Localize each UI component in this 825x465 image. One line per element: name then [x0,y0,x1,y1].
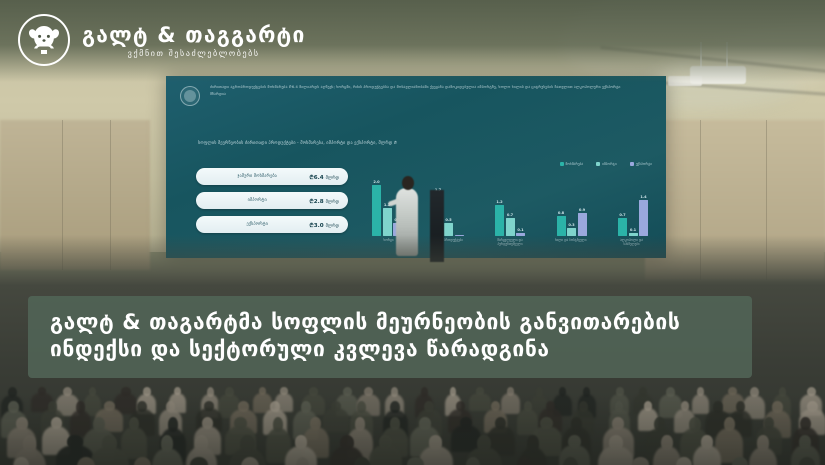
caption-banner: გალტ & თაგარტმა სოფლის მეურნეობის განვით… [28,296,752,378]
chart-bar-rect [495,205,504,236]
audience-member-head [681,401,689,411]
audience-member-head [310,417,320,430]
audience-member-head [612,417,624,430]
slide-metric-pills: ჯამური მოხმარება ₾6.4 მლრდ იმპორტი ₾2.8 … [196,168,348,240]
audience-member-head [559,387,567,396]
chart-bar: 0.5 [444,218,453,236]
audience-member-head [331,401,341,411]
chart-bar: 1.4 [639,195,648,236]
audience-member [469,393,491,412]
ram-emblem-icon [180,86,200,106]
chart-bar-rect [639,200,648,236]
audience-member-head [579,401,588,412]
audience-member-head [364,387,373,396]
audience-member-head [273,417,283,432]
audience-member-head [168,417,178,432]
metric-label: ჯამური მოხმარება [205,174,309,179]
brand-lockup: გალტ & თაგგარტი ვქმნით შესაძლებლობებს [18,14,306,66]
legend-item: იმპორტი [596,162,617,166]
chart-bar: 0.7 [618,213,627,236]
audience-member-head [390,417,401,430]
audience-member-head [67,435,82,448]
audience-member-head [689,417,701,432]
metric-label: იმპორტი [205,198,309,203]
slide-paragraph: ძირითადი აგროპროდუქტების მოხმარება ₾6.4 … [210,84,622,98]
audience-member-head [750,387,759,397]
chart-bar-rect [506,218,515,236]
caption-line-2: ინდექსი და სექტორული კვლევა წარადგინა [50,336,730,363]
caption-line-1: გალტ & თაგარტმა სოფლის მეურნეობის განვით… [50,309,730,336]
audience-member-head [16,417,28,430]
audience-member-head [524,401,532,412]
audience-member-head [424,401,434,412]
chart-bar-value-label: 1.2 [496,200,502,204]
audience-member-head [104,401,115,411]
brand-tagline: ვქმნით შესაძლებლობებს [82,48,306,60]
chart-bar: 0.7 [506,213,515,236]
chart-bar-value-label: 0.7 [619,213,625,217]
audience-member-head [495,417,506,429]
legend-item: მოხმარება [560,162,584,166]
audience-member-head [546,401,555,411]
audience-member-head [390,401,400,413]
audience-member-head [121,387,130,396]
ram-emblem-icon [18,14,70,66]
audience-member-head [355,417,365,431]
metric-value: ₾6.4 მლრდ [309,173,339,181]
chart-bar: 2.0 [372,180,381,236]
screenshot-root: ძირითადი აგროპროდუქტების მოხმარება ₾6.4 … [0,0,825,465]
audience-member-head [8,401,19,413]
audience-member-head [728,387,737,395]
chart-bar-group: 0.70.11.4 [618,195,648,236]
chart-bar-value-label: 0.7 [507,213,513,217]
chart-bar-value-label: 0.5 [445,218,451,222]
audience-member-head [407,457,423,465]
chart-bar-rect [618,218,627,236]
audience-member-head [38,387,46,395]
audience-member-head [540,417,553,429]
audience-member-head [301,401,311,413]
metric-label: ექსპორტი [205,222,309,227]
metric-pill: ჯამური მოხმარება ₾6.4 მლრდ [196,168,348,185]
audience-member-head [654,417,665,431]
audience-member-head [240,435,255,452]
audience-member-head [724,417,735,431]
audience-member-head [14,457,28,465]
audience-member-head [238,401,249,412]
chart-bar-rect [372,185,381,236]
chart-bar: 0.9 [578,208,587,236]
audience-member-head [421,387,428,397]
chart-bar-value-label: 0.1 [630,228,636,232]
audience-member-head [295,435,308,449]
audience-member-head [616,387,623,396]
audience-member-head [161,435,173,452]
header-overlay: გალტ & თაგგარტი ვქმნით შესაძლებლობებს [0,0,825,82]
audience-member-head [340,435,354,450]
audience-member-head [713,401,724,413]
chart-bar-value-label: 0.8 [558,211,564,215]
audience-member-head [129,417,139,430]
chart-bar-value-label: 0.9 [579,208,585,212]
audience-member-head [259,387,266,395]
audience-member-head [779,387,786,397]
audience-member-head [764,417,774,429]
audience-member-head [143,387,151,396]
audience-member-head [8,387,17,397]
audience-member-head [63,387,72,396]
audience-member-head [102,435,118,451]
brand-text: გალტ & თაგგარტი ვქმნით შესაძლებლობებს [82,21,306,60]
audience-member-head [234,417,246,429]
audience-member-head [202,417,213,429]
metric-value: ₾2.8 მლრდ [309,197,339,205]
audience-member-head [134,457,151,465]
audience-member-head [807,401,818,412]
audience-member-head [343,387,352,396]
audience-member-head [507,387,514,396]
audience-member-head [757,435,768,451]
audience-member-head [174,387,181,395]
chart-bar-group: 0.80.30.9 [557,208,587,236]
audience-member-head [799,435,811,449]
audience-member [323,408,349,432]
audience-member-head [280,387,287,395]
audience-member-head [270,401,280,412]
audience-member-head [89,387,96,396]
chart-bar: 0.8 [557,211,566,236]
audience-member-head [772,401,783,413]
metric-value: ₾3.0 მლრდ [309,221,339,229]
audience-member-head [666,387,675,397]
audience-member-head [476,387,485,395]
chart-bar-value-label: 0.3 [568,223,574,227]
audience-member-head [225,387,234,397]
metric-pill: იმპორტი ₾2.8 მლრდ [196,192,348,209]
audience-member [692,394,709,415]
metric-pill: ექსპორტი ₾3.0 მლრდ [196,216,348,233]
audience-member-head [800,417,811,430]
audience-member-head [568,435,580,448]
audience-member-head [460,417,472,428]
legend-item: ექსპორტი [630,162,652,166]
chart-legend: მოხმარება იმპორტი ექსპორტი [560,162,653,166]
audience-member-head [93,417,106,431]
audience-member-head [419,417,431,430]
slide-chart-subtitle: სოფლის მეურნეობის ძირითადი პროდუქტები - … [198,139,656,146]
audience-member-head [807,387,816,396]
legend-swatch-icon [560,162,564,166]
chart-bar-value-label: 2.0 [373,180,379,184]
audience-member-head [23,435,36,452]
audience-member-head [166,401,175,412]
audience-member-head [491,401,500,411]
audience-member-head [644,401,652,411]
audience-member-head [661,435,672,450]
audience-member-head [583,387,590,397]
audience-member-head [732,457,748,465]
chart-bar: 1.2 [495,200,504,236]
audience-member-head [76,401,85,413]
audience-member-head [429,435,443,450]
audience-member-head [736,401,745,412]
chart-bar-value-label: 0.1 [517,228,523,232]
audience-member-head [391,387,399,397]
legend-swatch-icon [596,162,600,166]
chart-bar-rect [578,213,587,236]
chart-bar-rect [557,216,566,236]
audience-member-head [195,435,207,451]
audience-member-head [639,387,647,396]
audience-member-head [48,401,57,412]
audience-member-head [137,401,147,412]
audience-member-head [357,401,366,413]
audience-member-head [51,417,62,429]
audience-member-head [207,387,214,397]
audience-member-head [536,387,543,397]
audience-member-head [571,417,582,431]
chart-bar-group: 1.20.70.1 [495,200,525,236]
audience-member-head [527,435,538,452]
brand-title: გალტ & თაგგარტი [82,23,306,47]
presenter-head [402,176,414,190]
audience-member [501,393,520,414]
audience-member-head [309,387,318,396]
audience-member-head [204,401,214,411]
audience-member-head [456,401,466,411]
legend-swatch-icon [630,162,634,166]
audience-member-head [450,387,457,396]
audience-member-head [609,435,624,450]
audience-member-head [701,435,712,449]
audience-member-head [379,435,392,449]
audience-member-head [477,435,491,451]
audience-member-head [697,387,704,396]
chart-bar-value-label: 1.4 [640,195,646,199]
